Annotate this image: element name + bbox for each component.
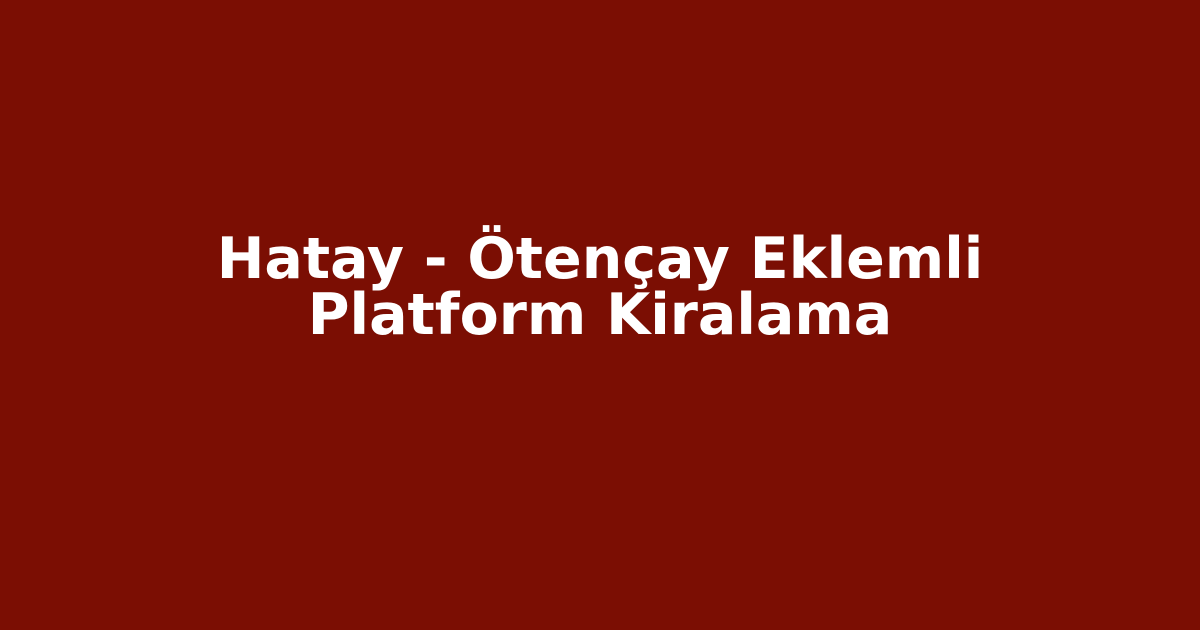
page-title: Hatay - Ötençay Eklemli Platform Kiralam… — [80, 231, 1120, 343]
og-preview-card: Hatay - Ötençay Eklemli Platform Kiralam… — [0, 0, 1200, 630]
title-block: Hatay - Ötençay Eklemli Platform Kiralam… — [0, 231, 1200, 343]
